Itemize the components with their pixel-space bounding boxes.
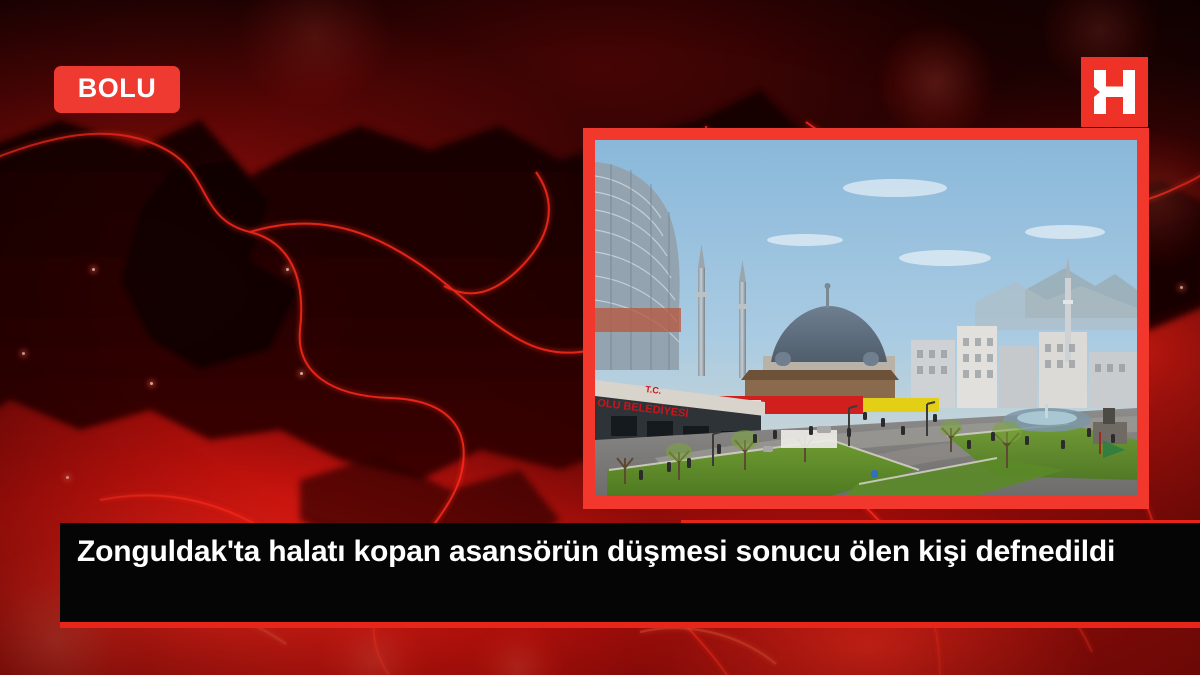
svg-text:T.C.: T.C. [645,384,662,396]
news-headline: Zonguldak'ta halatı kopan asansörün düşm… [77,532,1176,572]
spark-dot [66,476,69,479]
spark-dot [150,382,153,385]
city-badge[interactable]: BOLU [54,66,180,113]
news-photo-card[interactable]: T.C. OLU BELEDİYESİ [583,128,1149,509]
spark-dot [286,268,289,271]
spark-dot [300,372,303,375]
brand-logo[interactable] [1081,57,1148,127]
brand-h-logo-icon [1081,57,1148,127]
spark-dot [1180,286,1183,289]
news-photo: T.C. OLU BELEDİYESİ [595,140,1137,496]
news-card-stage: BOLU [0,0,1200,675]
spark-dot [92,268,95,271]
city-badge-label: BOLU [78,73,157,103]
spark-dot [22,352,25,355]
headline-band: Zonguldak'ta halatı kopan asansörün düşm… [60,523,1200,622]
